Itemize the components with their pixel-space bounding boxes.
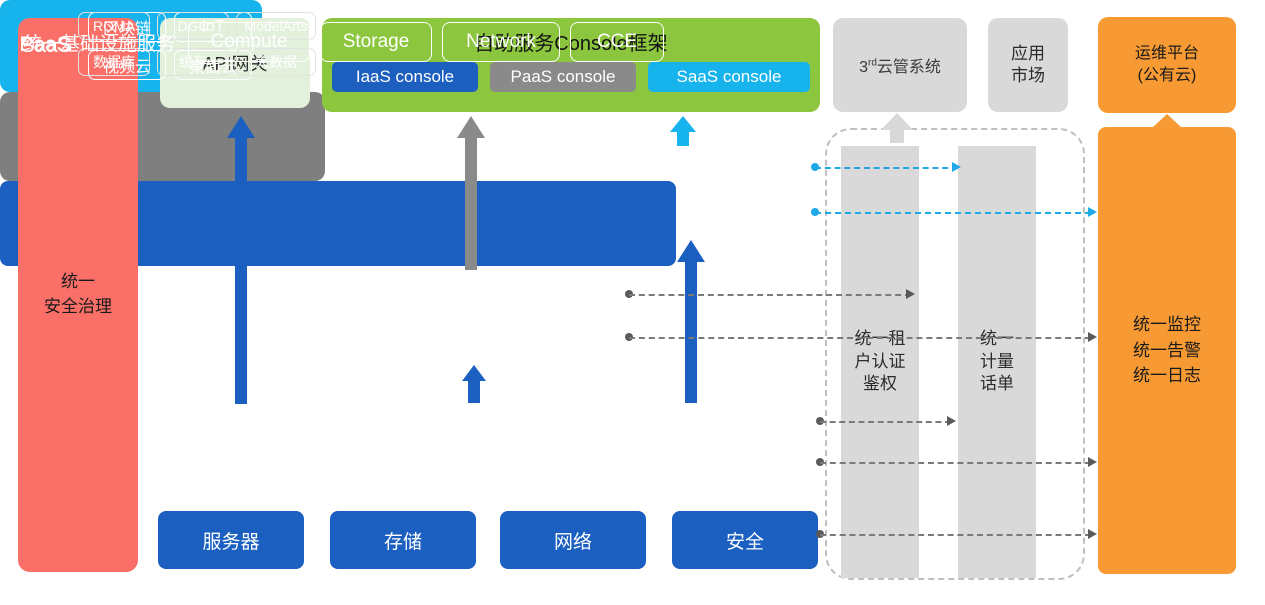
hardware-box-security: 安全 [672,511,818,569]
arrow-ops-panel-to-ops-platform [1152,114,1182,130]
lane-meter-line1: 统一 [980,328,1014,351]
unified-infrastructure-label: 统一基础设施服务 [14,0,184,85]
app-market-box: 应用 市场 [988,18,1068,112]
app-market-line2: 市场 [1011,65,1045,87]
ops-platform-line1: 运维平台 [1135,43,1199,65]
lane-meter-line3: 话单 [980,373,1014,396]
connector-paas-to-ops-panel [629,337,1091,339]
paas-console-chip[interactable]: PaaS console [490,62,636,92]
lane-auth-line1: 统一租 [855,328,906,351]
hardware-box-storage-label: 存储 [384,527,422,554]
ops-panel-line3: 统一日志 [1133,363,1201,389]
ops-panel-line1: 统一监控 [1133,312,1201,338]
arrowhead-saas-to-auth-lane [952,162,961,172]
connector-infra-to-auth-lane [820,421,951,423]
connector-saas-to-ops-panel [815,212,1091,214]
ops-monitoring-panel: 统一监控 统一告警 统一日志 [1098,127,1236,574]
arrow-saas-to-console [669,116,697,146]
arrowhead-saas-to-ops-panel [1088,207,1097,217]
connector-hardware-to-ops-panel [820,534,1091,536]
hardware-box-security-label: 安全 [726,527,764,554]
app-market-line1: 应用 [1011,43,1045,65]
architecture-diagram: 统一 安全治理 API网关 自助服务Console框架 IaaS console… [0,0,1265,605]
arrow-infra-to-api-gateway [226,116,256,404]
connector-infra-to-ops-panel [820,462,1091,464]
saas-console-chip[interactable]: SaaS console [648,62,810,92]
hardware-box-server: 服务器 [158,511,304,569]
connector-paas-to-auth-lane [629,294,911,296]
third-party-cloud-mgmt-box: 3rd云管系统 [833,18,967,112]
infra-chip-network[interactable]: Network [442,22,560,62]
connector-saas-to-auth-lane [815,167,958,169]
lane-unified-metering: 统一 计量 话单 [958,146,1036,578]
infra-chip-cce[interactable]: CCE [570,22,664,62]
arrowhead-paas-to-ops-panel [1088,332,1097,342]
arrowhead-hardware-to-ops-panel [1088,529,1097,539]
hardware-box-server-label: 服务器 [202,527,259,554]
infra-chip-compute[interactable]: Compute [188,22,310,62]
arrow-shared-to-third-cloud [880,113,914,143]
lane-auth-line2: 户认证 [855,351,906,374]
arrowhead-infra-to-ops-panel [1088,457,1097,467]
ops-panel-line2: 统一告警 [1133,338,1201,364]
security-governance-line2: 安全治理 [44,295,112,320]
ops-platform-box: 运维平台 (公有云) [1098,17,1236,113]
lane-unified-tenant-auth: 统一租 户认证 鉴权 [841,146,919,578]
security-governance-line1: 统一 [44,270,112,295]
security-governance-panel: 统一 安全治理 [18,18,138,572]
lane-meter-line2: 计量 [980,351,1014,374]
hardware-box-network: 网络 [500,511,646,569]
arrow-paas-to-console [456,116,486,270]
third-party-cloud-mgmt-label: 3rd云管系统 [859,53,941,77]
hardware-box-network-label: 网络 [554,527,592,554]
lane-auth-line3: 鉴权 [855,373,906,396]
infra-chip-storage[interactable]: Storage [320,22,432,62]
hardware-box-storage: 存储 [330,511,476,569]
arrow-infra-to-saas [676,240,706,403]
arrow-infra-to-paas [461,365,487,403]
iaas-console-chip[interactable]: IaaS console [332,62,478,92]
arrowhead-paas-to-auth-lane [906,289,915,299]
ops-platform-line2: (公有云) [1135,65,1199,87]
arrowhead-infra-to-auth-lane [947,416,956,426]
